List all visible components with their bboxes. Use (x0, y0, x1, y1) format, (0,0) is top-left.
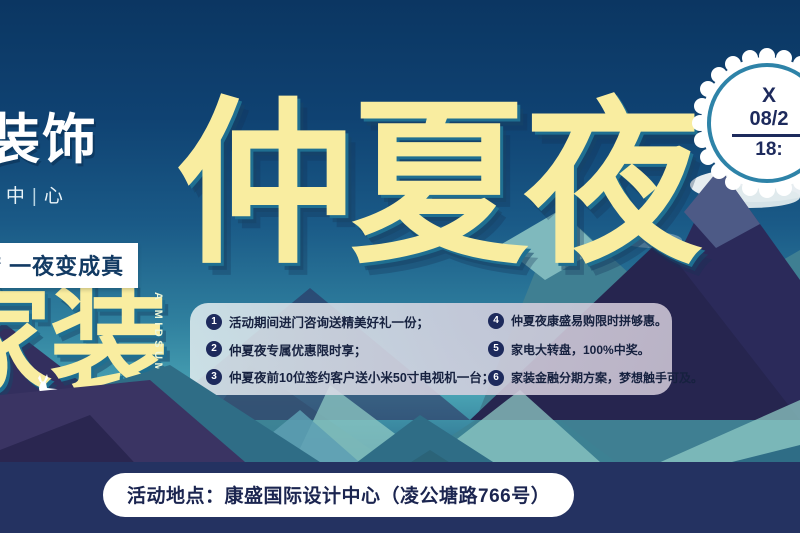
offer-number: 4 (488, 313, 504, 329)
offer-number: 1 (206, 314, 222, 330)
brand-tagline: 装梦 一夜变成真 (0, 243, 138, 288)
main-title: 仲夏夜 (176, 96, 698, 274)
event-address: 活动地点：康盛国际设计中心（凌公塘路766号） (103, 473, 574, 517)
badge-symbol: X (762, 84, 776, 107)
offer-text: 仲夏夜康盛易购限时拼够惠。 (511, 312, 667, 329)
brand-subtitle: 設|計|中|心 (0, 181, 190, 208)
brand-sub-char-2: 中 (6, 186, 26, 207)
badge-divider (732, 134, 800, 137)
brand-sub-char-3: 心 (44, 186, 64, 207)
offer-item: 4 仲夏夜康盛易购限时拼够惠。 (488, 312, 674, 329)
badge-date: 08/2 (750, 107, 789, 132)
badge-time: 18: (755, 139, 782, 162)
brand-logo: 盛装饰 設|計|中|心 (0, 112, 190, 208)
brand-name: 盛装饰 (0, 112, 190, 169)
event-date-badge: X 08/2 18: (692, 48, 800, 198)
offer-item: 1 活动期间进门咨询送精美好礼一份； (206, 312, 478, 331)
poster-canvas: 仲夏夜 家装 盛装饰 設|計|中|心 装梦 一夜变成真 A MIDSUMMER … (0, 0, 800, 533)
offer-text: 活动期间进门咨询送精美好礼一份； (229, 312, 429, 331)
